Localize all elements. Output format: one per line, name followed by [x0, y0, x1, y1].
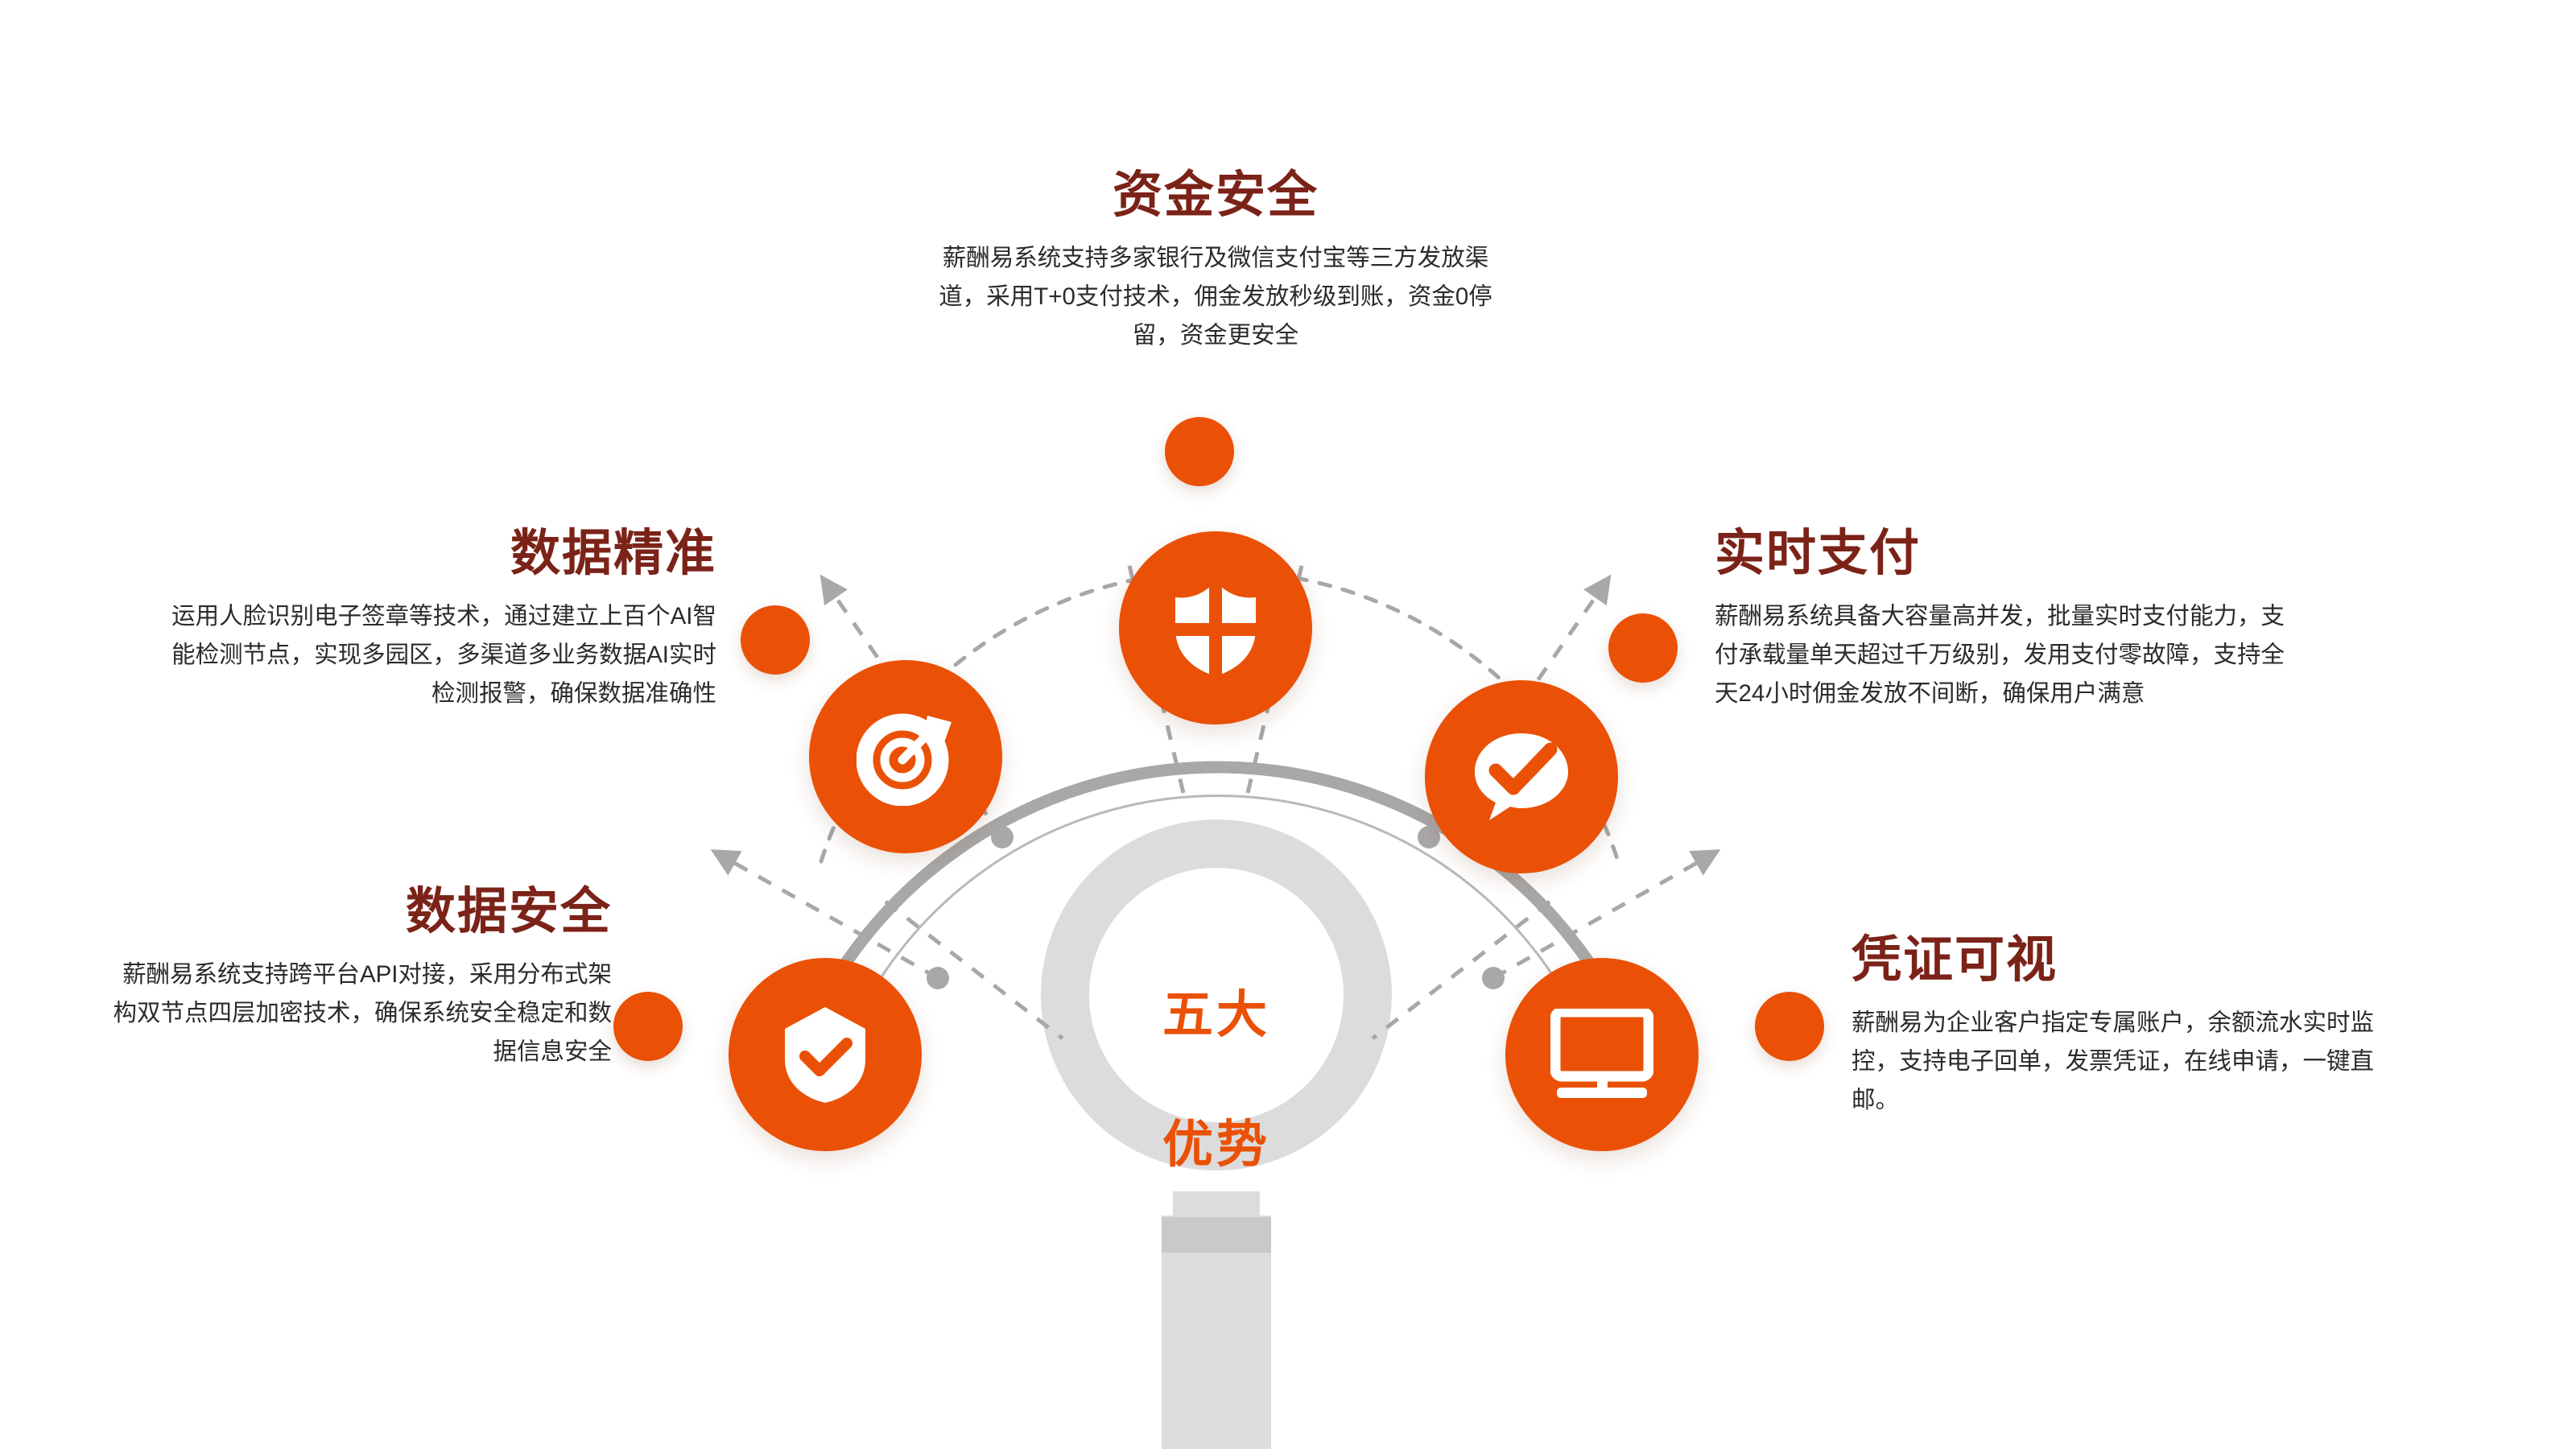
icon-node-fund-security[interactable] — [1119, 531, 1312, 724]
accent-dot-lower-right — [1755, 992, 1824, 1061]
infographic-canvas: 五大 优势 — [0, 0, 2576, 1449]
section-title-realtime-payment: 实时支付 — [1715, 527, 2343, 580]
center-label-line2: 优势 — [1092, 1113, 1341, 1178]
chat-check-icon — [1470, 729, 1573, 825]
section-title-data-accuracy: 数据精准 — [105, 527, 716, 580]
target-dart-icon — [857, 708, 955, 806]
accent-dot-top — [1165, 417, 1234, 486]
section-realtime-payment: 实时支付 薪酬易系统具备大容量高并发，批量实时支付能力，支付承载量单天超过千万级… — [1715, 527, 2343, 712]
icon-node-realtime-payment[interactable] — [1425, 680, 1618, 873]
section-voucher-visible: 凭证可视 薪酬易为企业客户指定专属账户，余额流水实时监控，支持电子回单，发票凭证… — [1851, 934, 2431, 1119]
section-fund-security: 资金安全 薪酬易系统支持多家银行及微信支付宝等三方发放渠道，采用T+0支付技术，… — [877, 169, 1554, 354]
section-title-voucher-visible: 凭证可视 — [1851, 934, 2431, 986]
accent-dot-upper-left — [741, 605, 810, 675]
section-body-data-security: 薪酬易系统支持跨平台API对接，采用分布式架构双节点四层加密技术，确保系统安全稳… — [113, 956, 612, 1071]
section-data-accuracy: 数据精准 运用人脸识别电子签章等技术，通过建立上百个AI智能检测节点，实现多园区… — [105, 527, 716, 712]
accent-dot-upper-right — [1608, 613, 1678, 683]
icon-node-data-accuracy[interactable] — [809, 660, 1002, 853]
section-data-security: 数据安全 薪酬易系统支持跨平台API对接，采用分布式架构双节点四层加密技术，确保… — [80, 885, 612, 1071]
section-body-voucher-visible: 薪酬易为企业客户指定专属账户，余额流水实时监控，支持电子回单，发票凭证，在线申请… — [1851, 1004, 2407, 1119]
icon-node-data-security[interactable] — [729, 958, 922, 1151]
icon-node-voucher-visible[interactable] — [1505, 958, 1699, 1151]
shield-cross-icon — [1170, 578, 1261, 678]
center-label: 五大 优势 — [1092, 918, 1341, 1242]
center-label-line1: 五大 — [1092, 983, 1341, 1048]
monitor-icon — [1550, 1009, 1653, 1100]
accent-dot-lower-left — [613, 992, 683, 1061]
section-body-realtime-payment: 薪酬易系统具备大容量高并发，批量实时支付能力，支付承载量单天超过千万级别，发用支… — [1715, 597, 2286, 712]
section-title-data-security: 数据安全 — [80, 885, 612, 938]
section-body-data-accuracy: 运用人脸识别电子签章等技术，通过建立上百个AI智能检测节点，实现多园区，多渠道多… — [153, 597, 716, 712]
section-body-fund-security: 薪酬易系统支持多家银行及微信支付宝等三方发放渠道，采用T+0支付技术，佣金发放秒… — [938, 239, 1493, 354]
shield-check-icon — [782, 1005, 869, 1104]
section-title-fund-security: 资金安全 — [877, 169, 1554, 221]
